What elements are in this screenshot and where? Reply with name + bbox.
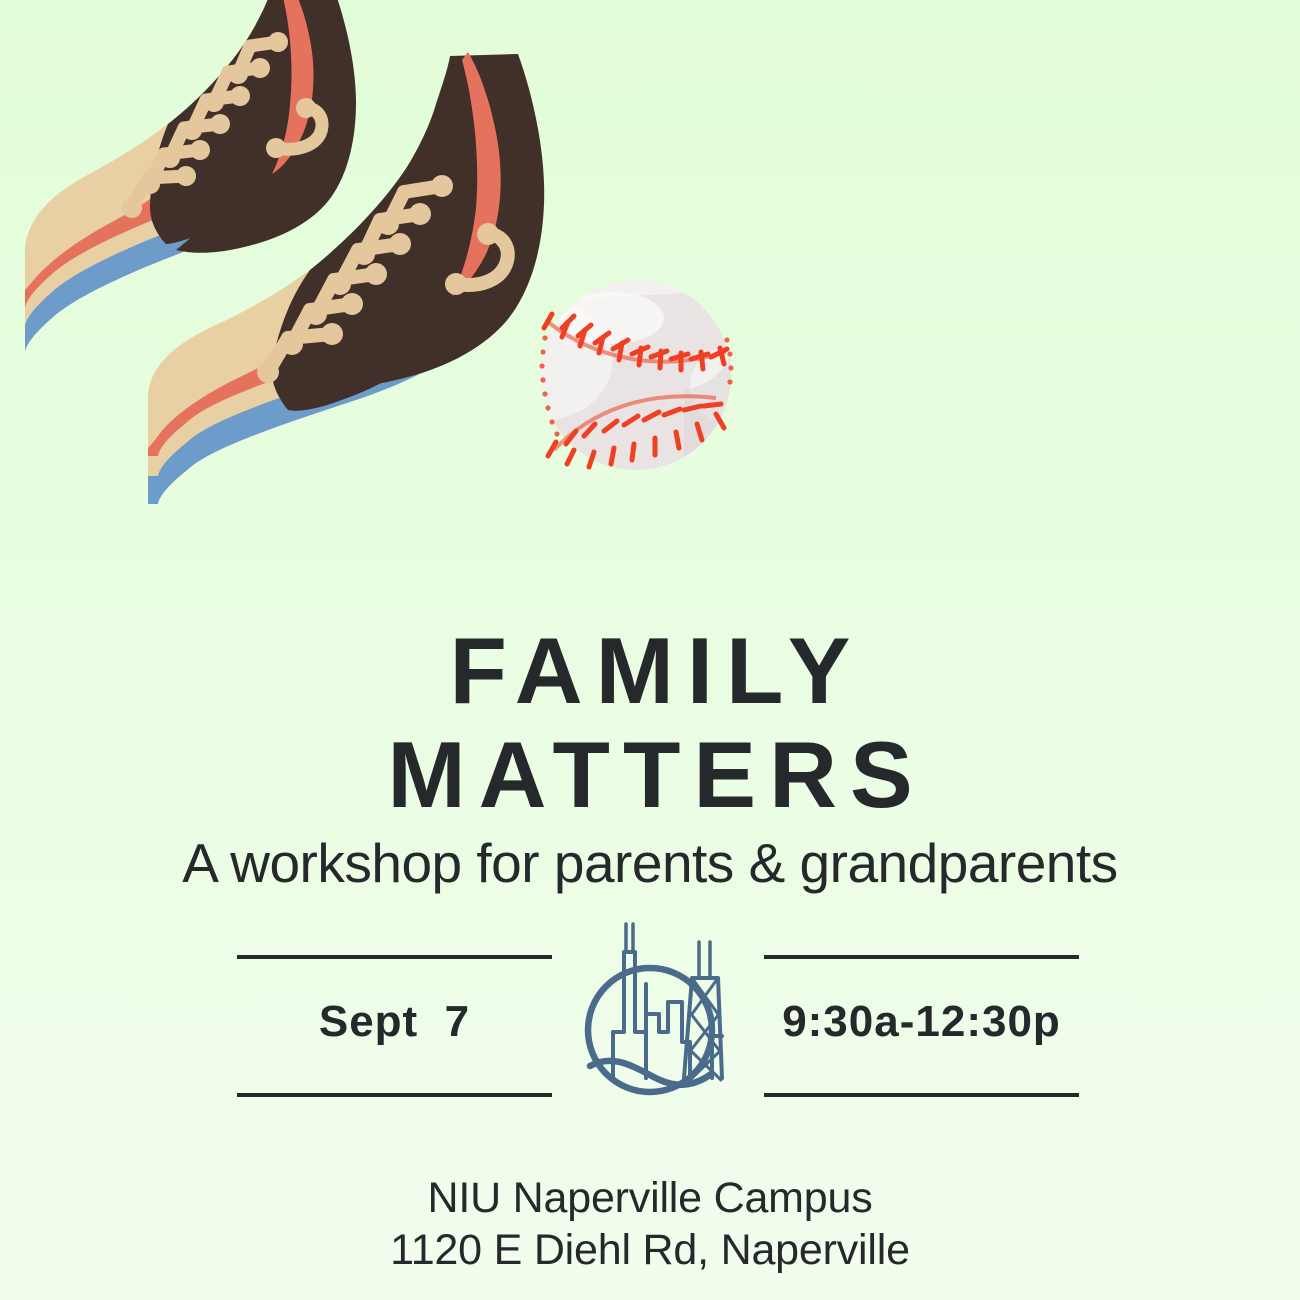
subtitle: A workshop for parents & grandparents [0,832,1300,894]
title-line-1: FAMILY [449,618,863,723]
venue-address: 1120 E Diehl Rd, Naperville [0,1224,1300,1276]
baseball [504,270,744,470]
venue-name: NIU Naperville Campus [0,1172,1300,1224]
page-title: FAMILY MATTERS [0,619,1300,827]
time-rule-bottom [764,1093,1079,1097]
chicago-skyline-logo-icon [572,918,728,1108]
date-rule-bottom [237,1093,552,1097]
time-block: 9:30a-12:30p [764,915,1079,1115]
poster-canvas: FAMILY MATTERS A workshop for parents & … [0,0,1300,1300]
title-line-2: MATTERS [0,723,1300,827]
sneakers-and-baseball-illustration [0,0,800,520]
date-value: Sept 7 [237,997,552,1047]
logo-hancock-antennas [699,942,710,978]
logo-willis-antennas [626,924,633,952]
time-rule-top [764,955,1079,959]
venue-info: NIU Naperville Campus 1120 E Diehl Rd, N… [0,1172,1300,1276]
time-value: 9:30a-12:30p [764,997,1079,1047]
date-rule-top [237,955,552,959]
date-block: Sept 7 [237,915,552,1115]
